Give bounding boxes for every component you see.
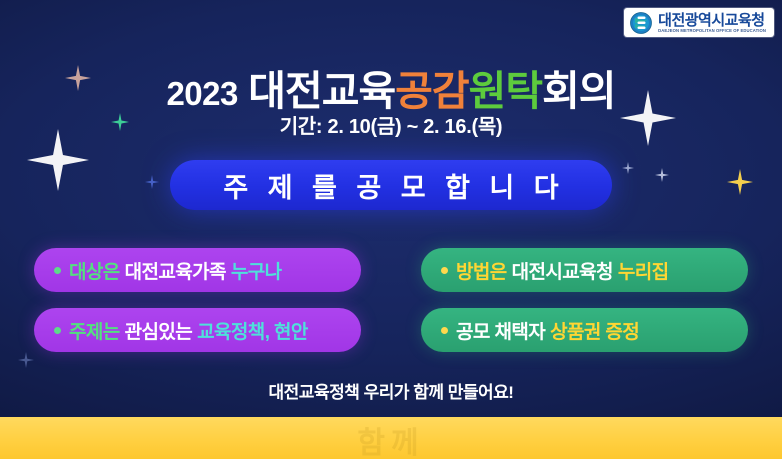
logo-english-name: DAEJEON METROPOLITAN OFFICE OF EDUCATION (658, 29, 766, 33)
daejeon-education-emblem-icon (630, 12, 652, 34)
pill-2-segment-2: 대전시교육청 (512, 257, 613, 284)
bottom-accent-bar: 함께 (0, 417, 782, 459)
info-pill-prize-notice: 공모 채택자 상품권 증정 (421, 308, 748, 352)
bullet-dot-icon (441, 267, 448, 274)
pill-3-segment-3: 교육정책, 현안 (197, 317, 308, 344)
pill-1-segment-3: 누구나 (231, 257, 282, 284)
pill-2-segment-3: 누리집 (618, 257, 669, 284)
pill-1-segment-2: 대전교육가족 (125, 257, 226, 284)
pill-1-segment-1: 대상은 (69, 257, 120, 284)
title-segment-4: 회의 (542, 68, 615, 114)
promotional-poster: 대전광역시교육청 DAEJEON METROPOLITAN OFFICE OF … (0, 0, 782, 459)
page-title: 2023 대전교육공감원탁회의 (0, 71, 782, 112)
pill-3-segment-1: 주제는 (69, 317, 120, 344)
bullet-dot-icon (54, 267, 61, 274)
logo-text-block: 대전광역시교육청 DAEJEON METROPOLITAN OFFICE OF … (658, 13, 766, 33)
pill-4-segment-1: 공모 채택자 (456, 317, 545, 344)
bullet-dot-icon (441, 327, 448, 334)
pill-2-segment-1: 방법은 (456, 257, 507, 284)
sparkle-right-tiny-b-icon (655, 168, 669, 182)
info-pill-target-audience: 대상은 대전교육가족 누구나 (34, 248, 361, 292)
institution-logo: 대전광역시교육청 DAEJEON METROPOLITAN OFFICE OF … (624, 8, 774, 37)
info-pill-grid: 대상은 대전교육가족 누구나 방법은 대전시교육청 누리집 주제는 관심있는 교… (34, 248, 748, 352)
info-pill-topic-scope: 주제는 관심있는 교육정책, 현안 (34, 308, 361, 352)
title-segment-2: 공감 (395, 68, 468, 114)
call-for-topics-label: 주 제 를 공 모 합 니 다 (217, 166, 564, 205)
title-year: 2023 (166, 75, 237, 112)
info-pill-submission-method: 방법은 대전시교육청 누리집 (421, 248, 748, 292)
title-segment-1: 대전교육 (248, 68, 395, 114)
pill-3-segment-2: 관심있는 (125, 317, 193, 344)
closing-tagline: 대전교육정책 우리가 함께 만들어요! (0, 378, 782, 403)
title-segment-3: 원탁 (469, 68, 542, 114)
event-period: 기간: 2. 10(금) ~ 2. 16.(목) (0, 110, 782, 139)
bullet-dot-icon (54, 327, 61, 334)
sparkle-right-yellow-icon (727, 169, 753, 195)
bottom-bar-watermark: 함께 (357, 418, 424, 459)
pill-4-segment-2: 상품권 증정 (550, 317, 639, 344)
sparkle-right-tiny-a-icon (622, 162, 634, 174)
logo-korean-name: 대전광역시교육청 (658, 13, 766, 28)
call-for-topics-banner: 주 제 를 공 모 합 니 다 (170, 160, 612, 210)
sparkle-bottom-left-icon (18, 352, 34, 368)
sparkle-left-blue-edge-icon (145, 175, 159, 189)
